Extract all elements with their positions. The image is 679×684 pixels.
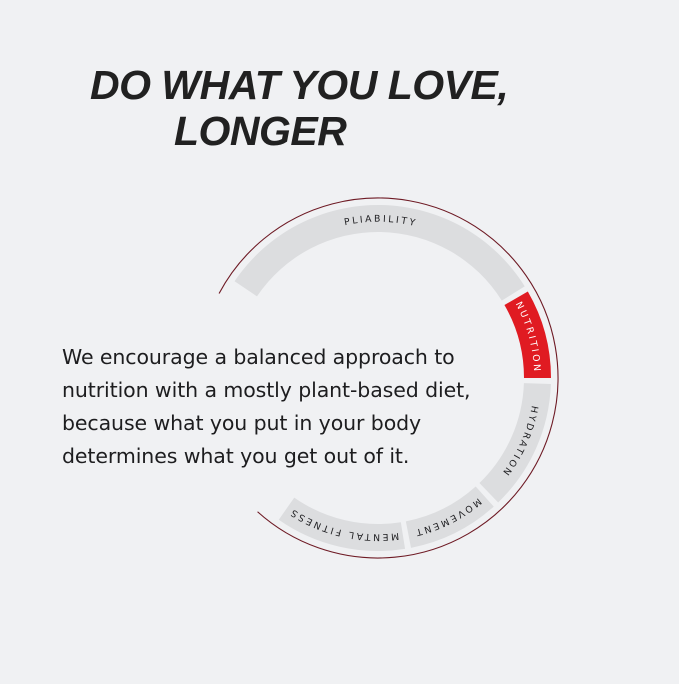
ring-segment-hydration[interactable] — [479, 383, 550, 502]
ring-svg: PLIABILITYNUTRITIONHYDRATIONMOVEMENTMENT… — [0, 0, 679, 679]
ring-segments — [235, 205, 551, 551]
poster-canvas: DO WHAT YOU LOVE, LONGER We encourage a … — [0, 0, 679, 679]
ring-segment-mental-fitness[interactable] — [279, 498, 405, 551]
pillars-ring-diagram: PLIABILITYNUTRITIONHYDRATIONMOVEMENTMENT… — [0, 0, 679, 679]
